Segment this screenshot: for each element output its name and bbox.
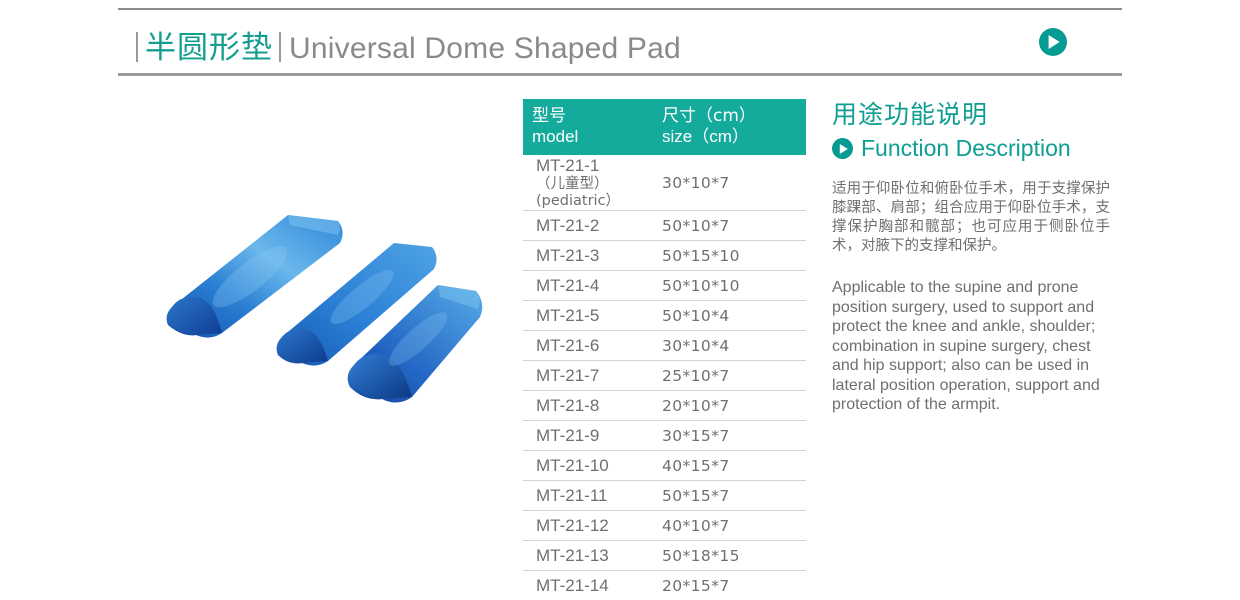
cell-size: 20*10*7 <box>658 397 806 415</box>
model-code: MT-21-1 <box>536 155 658 176</box>
cell-size: 30*10*7 <box>658 174 806 192</box>
description-panel: 用途功能说明 Function Description 适用于仰卧位和俯卧位手术… <box>832 100 1117 415</box>
cell-size: 50*10*7 <box>658 217 806 235</box>
column-header-size-cn: 尺寸（cm） <box>662 106 806 127</box>
product-image <box>150 185 510 425</box>
spec-table: 型号 model 尺寸（cm） size（cm） MT-21-1 （儿童型） (… <box>523 99 806 600</box>
description-body-en: Applicable to the supine and prone posit… <box>832 278 1115 415</box>
cell-model: MT-21-13 <box>523 546 658 566</box>
cell-model: MT-21-10 <box>523 456 658 476</box>
table-row[interactable]: MT-21-14 20*15*7 <box>523 571 806 600</box>
cell-size: 40*10*7 <box>658 517 806 535</box>
cell-model: MT-21-5 <box>523 306 658 326</box>
cell-size: 50*10*4 <box>658 307 806 325</box>
cell-size: 50*15*10 <box>658 247 806 265</box>
column-header-size-en: size（cm） <box>662 127 806 147</box>
page-header: 半圆形垫 Universal Dome Shaped Pad <box>118 8 1122 76</box>
table-row[interactable]: MT-21-9 30*15*7 <box>523 421 806 451</box>
cell-model: MT-21-8 <box>523 396 658 416</box>
play-circle-icon <box>832 138 853 159</box>
table-row[interactable]: MT-21-6 30*10*4 <box>523 331 806 361</box>
header-play-button[interactable] <box>1039 28 1067 61</box>
header-top-rule <box>118 8 1122 10</box>
cell-size: 30*15*7 <box>658 427 806 445</box>
table-row[interactable]: MT-21-4 50*10*10 <box>523 271 806 301</box>
description-body-cn: 适用于仰卧位和俯卧位手术，用于支撑保护膝踝部、肩部；组合应用于仰卧位手术，支撑保… <box>832 180 1110 256</box>
table-row[interactable]: MT-21-12 40*10*7 <box>523 511 806 541</box>
table-header-row: 型号 model 尺寸（cm） size（cm） <box>523 99 806 155</box>
cell-size: 20*15*7 <box>658 577 806 595</box>
column-header-model: 型号 model <box>523 106 658 147</box>
page-title-cn: 半圆形垫 <box>145 22 273 67</box>
title-divider-right <box>279 32 281 62</box>
cell-model: MT-21-11 <box>523 486 658 506</box>
model-note-cn: （儿童型） <box>536 176 658 193</box>
table-row[interactable]: MT-21-2 50*10*7 <box>523 211 806 241</box>
page-title-en: Universal Dome Shaped Pad <box>289 32 681 66</box>
cell-model: MT-21-1 （儿童型） (pediatric） <box>523 155 658 210</box>
cell-model: MT-21-4 <box>523 276 658 296</box>
column-header-model-en: model <box>532 127 658 147</box>
cell-size: 25*10*7 <box>658 367 806 385</box>
description-title-cn: 用途功能说明 <box>832 100 1117 130</box>
table-row[interactable]: MT-21-5 50*10*4 <box>523 301 806 331</box>
cell-size: 50*15*7 <box>658 487 806 505</box>
table-row[interactable]: MT-21-13 50*18*15 <box>523 541 806 571</box>
title-divider-left <box>136 32 138 62</box>
cell-size: 50*10*10 <box>658 277 806 295</box>
cell-model: MT-21-9 <box>523 426 658 446</box>
cell-size: 40*15*7 <box>658 457 806 475</box>
table-row[interactable]: MT-21-3 50*15*10 <box>523 241 806 271</box>
cell-model: MT-21-12 <box>523 516 658 536</box>
title-row: 半圆形垫 Universal Dome Shaped Pad <box>136 22 681 67</box>
model-note-en: (pediatric） <box>536 193 658 210</box>
table-row[interactable]: MT-21-7 25*10*7 <box>523 361 806 391</box>
table-row[interactable]: MT-21-1 （儿童型） (pediatric） 30*10*7 <box>523 155 806 211</box>
description-title-en: Function Description <box>861 135 1071 162</box>
cell-model: MT-21-7 <box>523 366 658 386</box>
cell-model: MT-21-2 <box>523 216 658 236</box>
description-title-en-row: Function Description <box>832 135 1117 162</box>
table-row[interactable]: MT-21-8 20*10*7 <box>523 391 806 421</box>
play-circle-icon <box>1039 28 1067 56</box>
cell-size: 50*18*15 <box>658 547 806 565</box>
cell-size: 30*10*4 <box>658 337 806 355</box>
cell-model: MT-21-3 <box>523 246 658 266</box>
header-bottom-rule <box>118 73 1122 76</box>
table-row[interactable]: MT-21-11 50*15*7 <box>523 481 806 511</box>
column-header-model-cn: 型号 <box>532 106 658 127</box>
cell-model: MT-21-14 <box>523 576 658 596</box>
column-header-size: 尺寸（cm） size（cm） <box>658 106 806 147</box>
dome-pads-illustration <box>150 185 510 425</box>
table-row[interactable]: MT-21-10 40*15*7 <box>523 451 806 481</box>
cell-model: MT-21-6 <box>523 336 658 356</box>
